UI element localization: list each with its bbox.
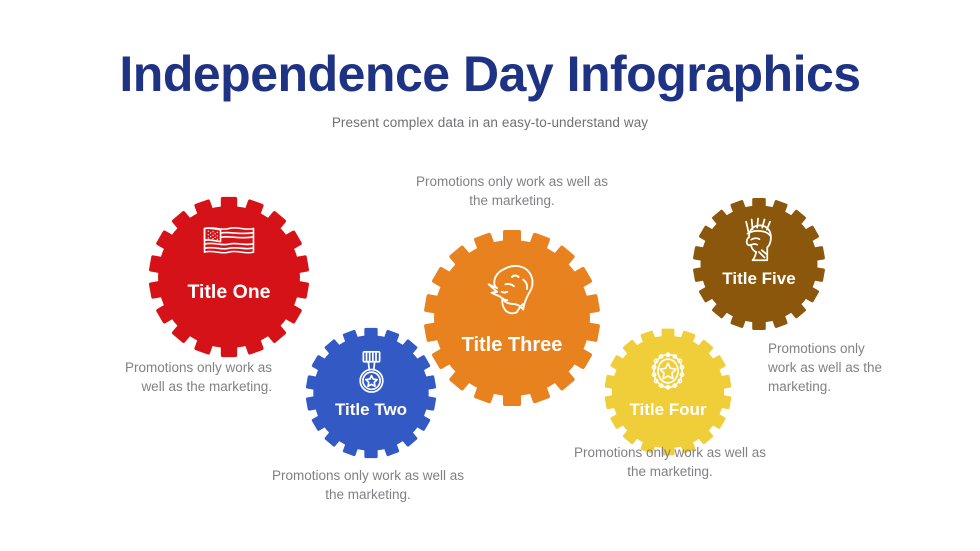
gear-five-caption: Promotions only work as well as the mark… [768,339,892,396]
gear-shape-brown [684,189,834,339]
gear-five[interactable]: Title Five [684,189,834,339]
gear-three-caption: Promotions only work as well as the mark… [408,172,616,210]
gear-four-caption: Promotions only work as well as the mark… [564,443,776,481]
header: Independence Day Infographics Present co… [0,48,980,130]
gear-two-caption: Promotions only work as well as the mark… [262,466,474,504]
gear-shape-red [138,186,320,368]
page-subtitle: Present complex data in an easy-to-under… [0,101,980,130]
infographic-slide: Independence Day Infographics Present co… [0,0,980,551]
page-title: Independence Day Infographics [0,48,980,101]
gear-one-caption: Promotions only work as well as the mark… [120,358,272,396]
gear-one[interactable]: Title One [138,186,320,368]
